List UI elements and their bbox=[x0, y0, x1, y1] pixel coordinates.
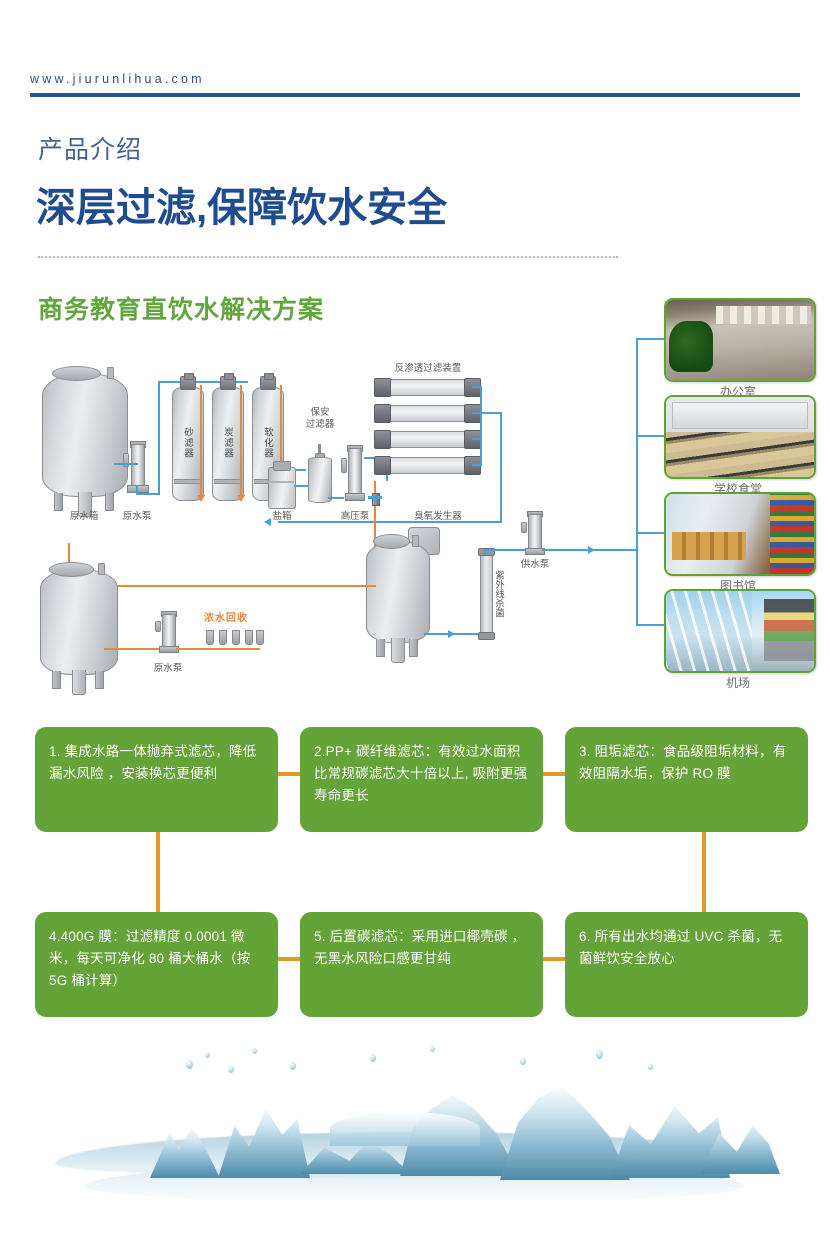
school-cafeteria-photo bbox=[666, 397, 814, 477]
high-pressure-pump-graphic bbox=[344, 445, 364, 501]
flow-arrow-icon bbox=[264, 518, 271, 526]
security-filter-graphic bbox=[308, 453, 330, 505]
site-url: www.jiurunlihua.com bbox=[30, 72, 205, 86]
flow-arrow-icon bbox=[588, 546, 595, 554]
section-kicker: 产品介绍 bbox=[38, 137, 142, 165]
pipe-segment bbox=[472, 438, 482, 440]
splash-droplet bbox=[596, 1050, 603, 1059]
drain-line bbox=[240, 385, 242, 497]
recovery-nozzle bbox=[245, 630, 253, 645]
splash-droplet bbox=[186, 1060, 193, 1069]
application-photo-library bbox=[664, 492, 816, 576]
pump-column bbox=[528, 514, 541, 551]
pump-base bbox=[345, 493, 365, 501]
feature-box-6: 6. 所有出水均通过 UVC 杀菌，无菌鲜饮安全放心 bbox=[565, 912, 808, 1017]
pipe-product-down bbox=[500, 412, 502, 522]
pipe-to-nozzles bbox=[176, 648, 260, 650]
page-header: www.jiurunlihua.com bbox=[0, 0, 830, 110]
tank-body bbox=[366, 541, 430, 643]
recovery-nozzle bbox=[219, 630, 227, 645]
salt-tank-cap bbox=[273, 461, 291, 471]
label-carbon-filter: 炭滤器 bbox=[220, 427, 234, 459]
caption-airport: 机场 bbox=[664, 674, 812, 691]
splash-crown bbox=[330, 1112, 480, 1146]
supply-pump-graphic bbox=[524, 511, 544, 555]
sand-filter-graphic: 砂滤器 bbox=[172, 387, 202, 499]
drain-arrow-icon bbox=[237, 495, 245, 502]
filter-body bbox=[308, 457, 332, 503]
tank-nozzle bbox=[412, 535, 419, 547]
ro-tube-cap bbox=[374, 404, 391, 423]
tank-lid bbox=[52, 366, 101, 381]
carbon-filter-graphic: 炭滤器 bbox=[212, 387, 242, 499]
concentrate-recovery-tank-graphic bbox=[40, 569, 116, 673]
splash-droplet bbox=[228, 1066, 234, 1073]
solution-subtitle: 商务教育直饮水解决方案 bbox=[38, 290, 324, 326]
tank-nozzle bbox=[98, 563, 105, 575]
uv-cap bbox=[478, 632, 495, 640]
pump-column bbox=[162, 614, 175, 650]
airport-photo bbox=[666, 591, 814, 671]
splash-droplet bbox=[520, 1058, 526, 1065]
pipe-segment bbox=[136, 493, 160, 495]
feature-box-4: 4.400G 膜：过滤精度 0.0001 微米，每天可净化 80 桶大桶水（按 … bbox=[35, 912, 278, 1017]
ro-tube-cap bbox=[374, 456, 391, 475]
ro-outlet-manifold bbox=[480, 386, 482, 466]
application-photo-cafeteria bbox=[664, 395, 816, 479]
valve-icon bbox=[368, 493, 382, 504]
flow-arrow-icon bbox=[448, 630, 455, 638]
pipe-uv-to-supply-pump bbox=[484, 549, 528, 551]
pipe-tank-to-pump bbox=[114, 463, 138, 465]
page-title: 深层过滤,保障饮水安全 bbox=[36, 185, 447, 231]
pump-motor bbox=[155, 621, 161, 632]
feature-box-1: 1. 集成水路一体抛弃式滤芯，降低漏水风险 ，安装换芯更便利 bbox=[35, 727, 278, 832]
salt-tank-graphic bbox=[268, 461, 294, 507]
label-recovery-pump: 原水泵 bbox=[140, 663, 196, 675]
connector-box3-box6 bbox=[702, 828, 706, 924]
tank-outlet bbox=[72, 670, 86, 695]
recovery-pump-graphic bbox=[158, 611, 178, 653]
application-photo-office bbox=[664, 298, 816, 382]
label-supply-pump: 供水泵 bbox=[510, 559, 560, 571]
vessel-label-wrap: 炭滤器 bbox=[212, 387, 242, 499]
connector-box1-box4 bbox=[156, 828, 160, 924]
salt-tank-band bbox=[268, 481, 294, 483]
label-ro-device: 反渗透过滤装置 bbox=[368, 363, 488, 375]
drain-arrow-icon bbox=[197, 495, 205, 502]
tank-body bbox=[40, 569, 118, 675]
tank-leg bbox=[409, 639, 418, 657]
feature-box-3: 3. 阻垢滤芯：食品级阻垢材料，有效阻隔水垢，保护 RO 膜 bbox=[565, 727, 808, 832]
tank-leg bbox=[105, 493, 114, 511]
tank-lid bbox=[373, 534, 410, 549]
distribution-branch bbox=[636, 338, 664, 340]
label-uv-sterilizer: 紫外线杀菌 bbox=[492, 559, 504, 629]
pipe-segment bbox=[328, 497, 344, 499]
pure-water-tank-graphic bbox=[366, 541, 428, 641]
pipe-riser bbox=[158, 381, 160, 495]
application-photo-airport bbox=[664, 589, 816, 673]
tank-outlet bbox=[391, 638, 405, 663]
label-security-filter-line2: 过滤器 bbox=[296, 419, 344, 431]
label-ozone-generator: 臭氧发生器 bbox=[398, 511, 478, 523]
recovery-nozzle bbox=[232, 630, 240, 645]
distribution-trunk-lower bbox=[636, 548, 638, 626]
splash-droplet bbox=[430, 1046, 435, 1052]
ro-tube-cap bbox=[374, 378, 391, 397]
feature-box-2: 2.PP+ 碳纤维滤芯：有效过水面积比常规碳滤芯大十倍以上, 吸附更强寿命更长 bbox=[300, 727, 543, 832]
drain-line bbox=[200, 385, 202, 497]
ro-membrane-tube bbox=[378, 405, 474, 422]
distribution-branch bbox=[636, 624, 664, 626]
water-splash-image bbox=[0, 1036, 830, 1234]
ro-membrane-tube bbox=[378, 431, 474, 448]
splash-droplet bbox=[290, 1062, 296, 1070]
pump-column bbox=[131, 444, 145, 488]
label-security-filter: 保安 过滤器 bbox=[296, 407, 344, 432]
tank-lid bbox=[49, 562, 94, 577]
office-photo bbox=[666, 300, 814, 380]
tank-body bbox=[42, 373, 128, 497]
tank-leg bbox=[95, 671, 104, 689]
pump-column bbox=[348, 448, 361, 495]
label-security-filter-line1: 保安 bbox=[296, 407, 344, 419]
ro-membrane-tube bbox=[378, 379, 474, 396]
ro-membrane-tube bbox=[378, 457, 474, 474]
tank-leg bbox=[52, 671, 61, 689]
ro-tube-cap bbox=[374, 430, 391, 449]
splash-droplet bbox=[648, 1064, 653, 1070]
tank-leg bbox=[54, 493, 63, 511]
vessel-label-wrap: 砂滤器 bbox=[172, 387, 202, 499]
feature-boxes: 1. 集成水路一体抛弃式滤芯，降低漏水风险 ，安装换芯更便利 2.PP+ 碳纤维… bbox=[0, 718, 830, 1038]
pipe-recovery-out bbox=[104, 648, 166, 650]
splash-droplet bbox=[370, 1054, 376, 1062]
splash-droplet bbox=[205, 1052, 210, 1058]
distribution-branch bbox=[636, 532, 664, 534]
distribution-branch bbox=[636, 435, 664, 437]
salt-tank-body bbox=[268, 467, 296, 509]
tank-nozzle bbox=[107, 367, 114, 379]
splash-droplet bbox=[252, 1048, 257, 1054]
label-sand-filter: 砂滤器 bbox=[180, 427, 194, 459]
feature-box-5: 5. 后置碳滤芯：采用进口椰壳碳 ，无黑水风险口感更甘纯 bbox=[300, 912, 543, 1017]
splash-peak bbox=[500, 1084, 630, 1180]
header-divider bbox=[30, 93, 800, 97]
tank-leg bbox=[376, 639, 385, 657]
title-dotted-divider bbox=[38, 256, 618, 258]
recovery-nozzle bbox=[256, 630, 264, 645]
pipe-segment bbox=[480, 412, 502, 414]
pump-motor bbox=[521, 522, 527, 534]
distribution-trunk bbox=[636, 338, 638, 550]
label-softener: 软化器 bbox=[260, 427, 274, 459]
pump-motor bbox=[341, 458, 347, 472]
splash-peak bbox=[218, 1104, 310, 1178]
library-photo bbox=[666, 494, 814, 574]
water-treatment-flow-diagram: 原水箱 原水泵 砂滤器 炭滤器 软化器 bbox=[0, 345, 830, 705]
label-concentrate-recovery: 浓水回收 bbox=[204, 609, 248, 624]
recovery-nozzle bbox=[206, 630, 214, 645]
pipe-segment bbox=[472, 386, 482, 388]
raw-water-tank-graphic bbox=[42, 373, 126, 495]
label-raw-water-pump: 原水泵 bbox=[107, 511, 167, 523]
pipe-segment bbox=[472, 464, 482, 466]
